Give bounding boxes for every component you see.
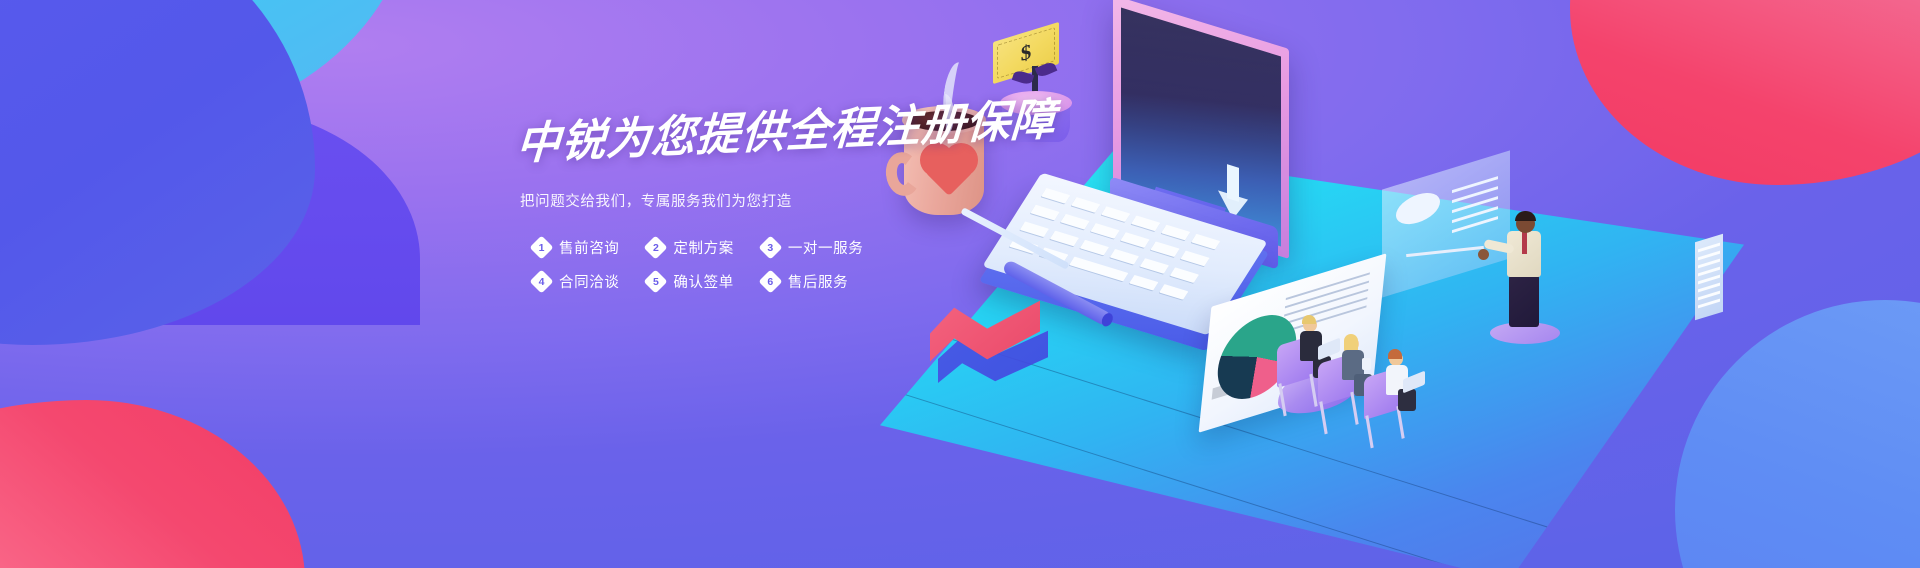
service-steps-row-2: 4 合同洽谈 5 确认签单 6 售后服务 (533, 271, 975, 292)
step-label: 定制方案 (673, 237, 733, 258)
phone-icon (1362, 358, 1371, 370)
banner-subtitle: 把问题交给我们，专属服务我们为您打造 (520, 190, 975, 211)
step-number-badge-icon: 6 (762, 273, 779, 290)
presenter-hand (1478, 249, 1489, 260)
step-label: 合同洽谈 (559, 271, 619, 292)
step-label: 售前咨询 (559, 237, 619, 258)
person-legs (1398, 389, 1416, 411)
person-hair (1388, 349, 1402, 359)
step-label: 一对一服务 (788, 237, 864, 258)
decorative-blob-pink-bottom-left (0, 400, 305, 568)
step-number-badge-icon: 3 (762, 239, 779, 256)
step-label: 确认签单 (673, 271, 733, 292)
decorative-blob-pink-top-right (1570, 0, 1920, 185)
service-steps-row-1: 1 售前咨询 2 定制方案 3 一对一服务 (533, 237, 975, 258)
step-number-badge-icon: 4 (533, 273, 550, 290)
person-hair (1302, 315, 1316, 324)
step-number-badge-icon: 2 (647, 239, 664, 256)
service-step-item: 4 合同洽谈 (533, 271, 619, 292)
decorative-blob-blue-bottom-right (1675, 300, 1920, 568)
necktie-icon (1522, 232, 1527, 254)
presenter-legs (1509, 275, 1539, 327)
service-step-item: 6 售后服务 (762, 271, 848, 292)
step-number-badge-icon: 1 (533, 239, 550, 256)
presentation-ellipse-icon (1396, 188, 1440, 229)
dollar-sign-icon: $ (1021, 39, 1032, 67)
promo-banner: $ (0, 0, 1920, 568)
banner-text-block: 中锐为您提供全程注册保障 把问题交给我们，专属服务我们为您打造 1 售前咨询 2… (515, 122, 975, 305)
service-step-item: 5 确认签单 (647, 271, 733, 292)
step-label: 售后服务 (788, 271, 848, 292)
service-steps-list: 1 售前咨询 2 定制方案 3 一对一服务 (533, 237, 975, 292)
presenter-hair (1515, 211, 1536, 221)
step-number-badge-icon: 5 (647, 273, 664, 290)
service-step-item: 3 一对一服务 (762, 237, 864, 258)
service-step-item: 2 定制方案 (647, 237, 733, 258)
small-document-icon (1695, 234, 1723, 321)
banner-headline: 中锐为您提供全程注册保障 (515, 101, 977, 168)
service-step-item: 1 售前咨询 (533, 237, 619, 258)
